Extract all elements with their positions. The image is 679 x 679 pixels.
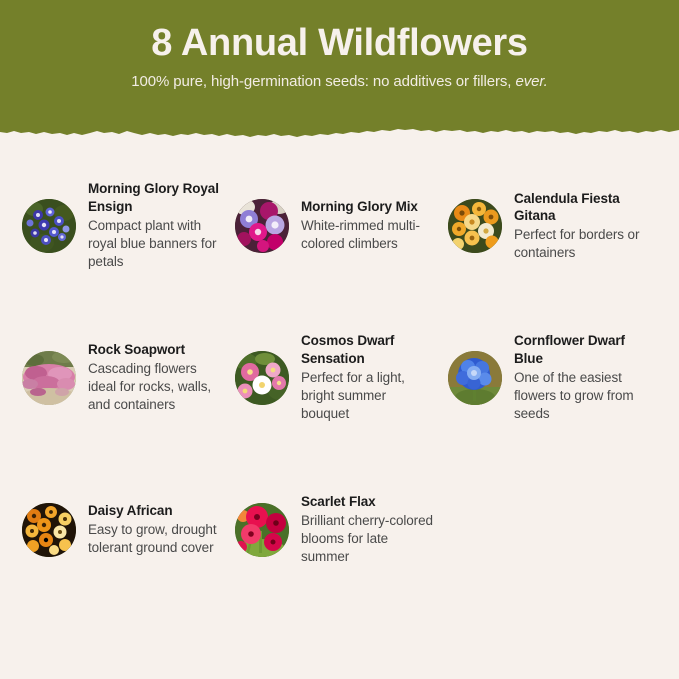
item-texts: Morning Glory Mix White-rimmed multi-col… <box>301 198 436 253</box>
item-description: Perfect for borders or containers <box>514 226 649 263</box>
list-item[interactable]: Calendula Fiesta Gitana Perfect for bord… <box>448 150 661 302</box>
item-texts: Scarlet Flax Brilliant cherry-colored bl… <box>301 493 436 567</box>
item-name: Rock Soapwort <box>88 341 223 359</box>
subtitle-emphasis: ever. <box>515 73 547 90</box>
torn-paper-edge-icon <box>0 120 679 143</box>
pink-soapwort-groundcover-icon <box>22 351 76 405</box>
pink-white-cosmos-flowers-icon <box>235 351 289 405</box>
list-item[interactable]: Morning Glory Mix White-rimmed multi-col… <box>235 150 448 302</box>
item-description: White-rimmed multi-colored climbers <box>301 217 436 254</box>
page-subtitle: 100% pure, high-germination seeds: no ad… <box>0 73 679 92</box>
item-name: Scarlet Flax <box>301 493 436 511</box>
item-description: Compact plant with royal blue banners fo… <box>88 217 223 272</box>
mixed-morning-glory-flowers-icon <box>235 199 289 253</box>
item-description: Brilliant cherry-colored blooms for late… <box>301 512 436 567</box>
page-header: 8 Annual Wildflowers 100% pure, high-ger… <box>0 0 679 143</box>
list-item[interactable]: Cosmos Dwarf Sensation Perfect for a lig… <box>235 302 448 454</box>
item-texts: Calendula Fiesta Gitana Perfect for bord… <box>514 190 649 263</box>
item-description: Easy to grow, drought tolerant ground co… <box>88 521 223 558</box>
item-name: Daisy African <box>88 502 223 520</box>
item-name: Morning Glory Royal Ensign <box>88 180 223 215</box>
item-name: Morning Glory Mix <box>301 198 436 216</box>
page-title: 8 Annual Wildflowers <box>0 22 679 65</box>
item-texts: Cosmos Dwarf Sensation Perfect for a lig… <box>301 332 436 423</box>
list-item[interactable]: Daisy African Easy to grow, drought tole… <box>22 454 235 606</box>
list-item[interactable]: Scarlet Flax Brilliant cherry-colored bl… <box>235 454 448 606</box>
blue-morning-glory-flowers-icon <box>22 199 76 253</box>
item-description: Perfect for a light, bright summer bouqu… <box>301 369 436 424</box>
item-description: One of the easiest flowers to grow from … <box>514 369 649 424</box>
item-name: Calendula Fiesta Gitana <box>514 190 649 225</box>
item-texts: Daisy African Easy to grow, drought tole… <box>88 502 223 557</box>
item-name: Cosmos Dwarf Sensation <box>301 332 436 367</box>
list-item[interactable]: Rock Soapwort Cascading flowers ideal fo… <box>22 302 235 454</box>
item-name: Cornflower Dwarf Blue <box>514 332 649 367</box>
list-item[interactable]: Cornflower Dwarf Blue One of the easiest… <box>448 302 661 454</box>
item-texts: Morning Glory Royal Ensign Compact plant… <box>88 180 223 271</box>
subtitle-lead: 100% pure, high-germination seeds: no ad… <box>131 73 515 90</box>
scarlet-flax-red-flowers-icon <box>235 503 289 557</box>
item-texts: Rock Soapwort Cascading flowers ideal fo… <box>88 341 223 415</box>
item-description: Cascading flowers ideal for rocks, walls… <box>88 360 223 415</box>
item-texts: Cornflower Dwarf Blue One of the easiest… <box>514 332 649 423</box>
orange-african-daisy-flowers-icon <box>22 503 76 557</box>
orange-calendula-flowers-icon <box>448 199 502 253</box>
wildflower-list: Morning Glory Royal Ensign Compact plant… <box>0 150 679 606</box>
list-item[interactable]: Morning Glory Royal Ensign Compact plant… <box>22 150 235 302</box>
blue-cornflower-bloom-icon <box>448 351 502 405</box>
